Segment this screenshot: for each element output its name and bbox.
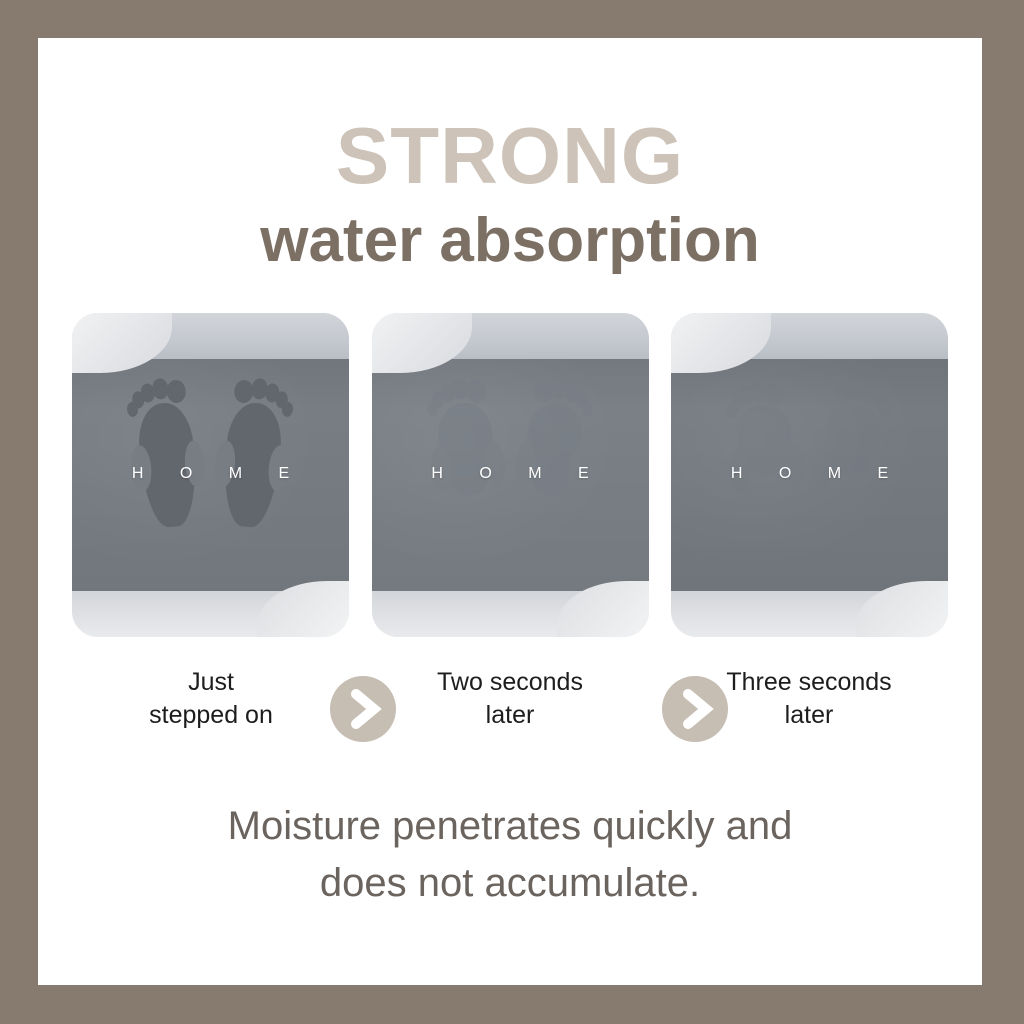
- bath-mat-image-1: H O M E: [72, 313, 349, 637]
- caption-panel-2: Two seconds later: [385, 666, 635, 732]
- mat-panel-2: H O M E: [372, 313, 649, 637]
- mat-panel-row: H O M E: [72, 313, 948, 637]
- footprint-left: [729, 379, 804, 532]
- page-title-primary: STRONG: [38, 116, 982, 196]
- caption-line-2: later: [385, 699, 635, 732]
- footprint-left: [429, 377, 504, 530]
- caption-panel-3: Three seconds later: [684, 666, 934, 732]
- caption-line-1: Just: [86, 666, 336, 699]
- footprint-right: [216, 377, 291, 530]
- mat-home-label: H O M E: [372, 465, 649, 483]
- mat-home-label: H O M E: [72, 465, 349, 483]
- footprint-right: [515, 377, 590, 530]
- caption-line-2: stepped on: [86, 699, 336, 732]
- title-block: STRONG water absorption: [38, 116, 982, 273]
- mat-panel-1: H O M E: [72, 313, 349, 637]
- mat-panel-3: H O M E: [671, 313, 948, 637]
- footer-tagline: Moisture penetrates quickly and does not…: [38, 798, 982, 912]
- tagline-line-1: Moisture penetrates quickly and: [38, 798, 982, 855]
- infographic-card: STRONG water absorption: [38, 38, 982, 985]
- caption-row: Just stepped on Two seconds later Three …: [72, 658, 948, 758]
- outer-frame: STRONG water absorption: [0, 0, 1024, 1024]
- caption-panel-1: Just stepped on: [86, 666, 336, 732]
- bath-mat-image-2: H O M E: [372, 313, 649, 637]
- caption-line-1: Two seconds: [385, 666, 635, 699]
- footprint-right: [815, 379, 890, 532]
- tagline-line-2: does not accumulate.: [38, 855, 982, 912]
- caption-line-1: Three seconds: [684, 666, 934, 699]
- page-title-secondary: water absorption: [38, 208, 982, 273]
- caption-line-2: later: [684, 699, 934, 732]
- mat-home-label: H O M E: [671, 465, 948, 483]
- bath-mat-image-3: H O M E: [671, 313, 948, 637]
- footprint-left: [130, 377, 205, 530]
